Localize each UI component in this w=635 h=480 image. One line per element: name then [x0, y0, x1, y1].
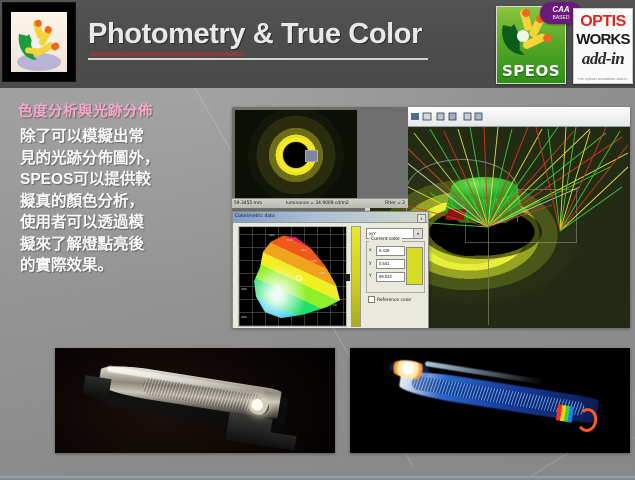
cie-wl-label: 560: [301, 248, 307, 252]
photo-false-color-lamp: [350, 348, 630, 453]
luminance-slider-track[interactable]: [351, 226, 361, 327]
field-x-value: 0.419: [379, 247, 389, 255]
body-paragraph: 除了可以模擬出常 見的光跡分佈圖外， SPEOS可以提供較 擬真的顏色分析， 使…: [20, 126, 210, 277]
cie-wl-label: 460: [241, 315, 247, 319]
body-line: 擬來了解燈點亮後: [20, 234, 210, 256]
app-icon-artwork: [11, 12, 67, 72]
false-color-tip-scale: [556, 404, 574, 422]
vertical-axis-line: [488, 225, 489, 325]
measurement-probe-marker[interactable]: [305, 150, 318, 162]
luminance-status-bar: 59.3455 mm luminance = 34.9009 cd/m2 Fil…: [232, 198, 408, 208]
dialog-title-bar[interactable]: Colorimetric data x: [233, 212, 428, 223]
field-x[interactable]: 0.419: [376, 246, 405, 256]
app-icon-svg: [11, 12, 67, 72]
field-label-y: y: [369, 261, 372, 266]
body-line: 除了可以模擬出常: [20, 126, 210, 148]
cie-wl-label: 620: [325, 283, 331, 287]
speos-app-icon: [3, 3, 75, 81]
cie-wl-label: 700: [331, 303, 337, 307]
reference-color-label: Reference color: [377, 298, 411, 303]
chrome-lamp-model: [76, 348, 305, 453]
page-title: Photometry & True Color: [88, 12, 448, 56]
status-luminance: luminance = 34.9009 cd/m2: [286, 199, 349, 208]
optis-logo-line4: the optical simulation add-in: [574, 77, 632, 81]
close-icon[interactable]: x: [417, 214, 426, 223]
cie-wl-label: 640: [329, 293, 335, 297]
field-label-x: x: [369, 248, 372, 253]
dialog-title: Colorimetric data: [235, 212, 275, 222]
slide-canvas: Photometry & True Color SPEOS CAA BASED …: [0, 0, 635, 480]
speos-logo-word: SPEOS: [497, 62, 565, 80]
false-color-lamp-model: [376, 348, 610, 453]
slide-bottom-rule: [0, 476, 635, 480]
field-y[interactable]: 0.541: [376, 259, 405, 269]
software-screenshot-panel: 59.3455 mm luminance = 34.9009 cd/m2 Fil…: [232, 107, 630, 328]
optis-logo-line2: WORKS: [574, 31, 632, 48]
field-Y-value: 69.022: [379, 273, 392, 281]
status-position: 59.3455 mm: [234, 199, 262, 208]
cie-wl-label: 580: [311, 259, 317, 263]
field-label-Y: Y: [369, 274, 372, 279]
section-heading: 色度分析與光跡分佈: [18, 100, 228, 121]
cie-wl-label: 520: [269, 233, 275, 237]
reference-color-checkbox[interactable]: Reference color: [368, 296, 411, 303]
title-underline-rule: [88, 58, 428, 60]
cie-wl-label: 480: [241, 287, 247, 291]
lamp-base-bracket: [225, 412, 299, 451]
luminance-map-view: 59.3455 mm luminance = 34.9009 cd/m2 Fil…: [232, 107, 408, 208]
cie-wl-label: 540: [287, 238, 293, 242]
optis-works-logo: OPTIS WORKS add-in the optical simulatio…: [573, 8, 633, 84]
checkbox-box-icon[interactable]: [368, 296, 375, 303]
optis-logo-line1: OPTIS: [574, 13, 632, 31]
body-line: 使用者可以透過模: [20, 212, 210, 234]
luminance-map-image: [235, 110, 357, 199]
body-line: 擬真的顏色分析，: [20, 191, 210, 213]
colorimetric-data-dialog[interactable]: Colorimetric data x 520 540 560 580 600 …: [232, 211, 429, 328]
cie-wl-label: 600: [319, 271, 325, 275]
field-y-value: 0.541: [379, 260, 389, 268]
current-color-group-label: Current color: [369, 237, 402, 242]
current-color-swatch: [406, 247, 423, 285]
spellcheck-underline: [90, 52, 244, 56]
cie-chromaticity-diagram[interactable]: 520 540 560 580 600 620 640 700 480 460: [238, 226, 347, 327]
photo-real-render-lamp: [55, 348, 335, 453]
field-Y[interactable]: 69.022: [376, 272, 405, 282]
body-line: 的實際效果。: [20, 255, 210, 277]
cie-wavelength-labels: 520 540 560 580 600 620 640 700 480 460: [239, 227, 346, 326]
luminance-slider-knob[interactable]: [345, 274, 350, 281]
optis-logo-line3: add-in: [574, 49, 632, 69]
status-filter: Filter = 2: [385, 199, 405, 208]
lamp-mount-tab: [83, 375, 111, 397]
body-line: 見的光跡分佈圖外，: [20, 148, 210, 170]
chevron-down-icon[interactable]: ▾: [413, 229, 422, 238]
body-line: SPEOS可以提供較: [20, 169, 210, 191]
